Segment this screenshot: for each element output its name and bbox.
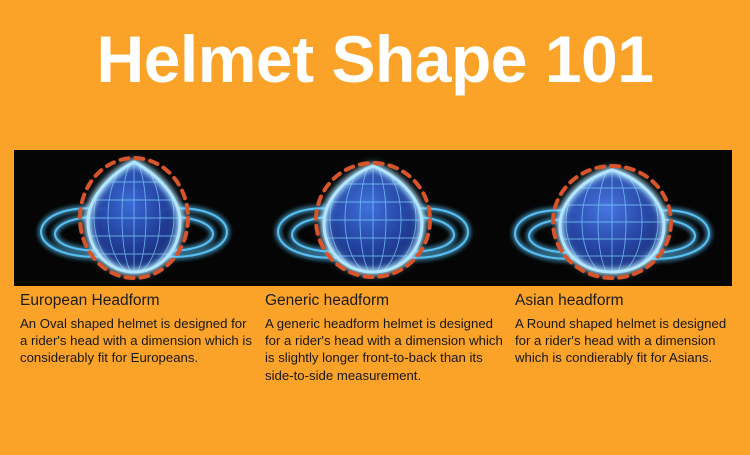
page-title: Helmet Shape 101 [0, 24, 750, 94]
caption-generic: Generic headform A generic headform helm… [265, 292, 505, 384]
headform-cell-generic [253, 150, 492, 286]
caption-body-european: An Oval shaped helmet is designed for a … [20, 315, 252, 367]
caption-heading-asian: Asian headform [515, 292, 740, 310]
headform-cell-european [14, 150, 253, 286]
caption-heading-generic: Generic headform [265, 292, 505, 310]
asian-headform-diagram [507, 152, 717, 284]
european-headform-diagram [29, 152, 239, 284]
headform-cell-asian [493, 150, 732, 286]
caption-body-asian: A Round shaped helmet is designed for a … [515, 315, 740, 367]
caption-heading-european: European Headform [20, 292, 252, 310]
generic-headform-diagram [268, 152, 478, 284]
helmet-shape-infographic: Helmet Shape 101 [0, 0, 750, 455]
caption-asian: Asian headform A Round shaped helmet is … [515, 292, 740, 367]
caption-european: European Headform An Oval shaped helmet … [20, 292, 252, 367]
headform-illustration-panel [14, 150, 732, 286]
caption-body-generic: A generic headform helmet is designed fo… [265, 315, 505, 384]
caption-row: European Headform An Oval shaped helmet … [0, 292, 750, 412]
